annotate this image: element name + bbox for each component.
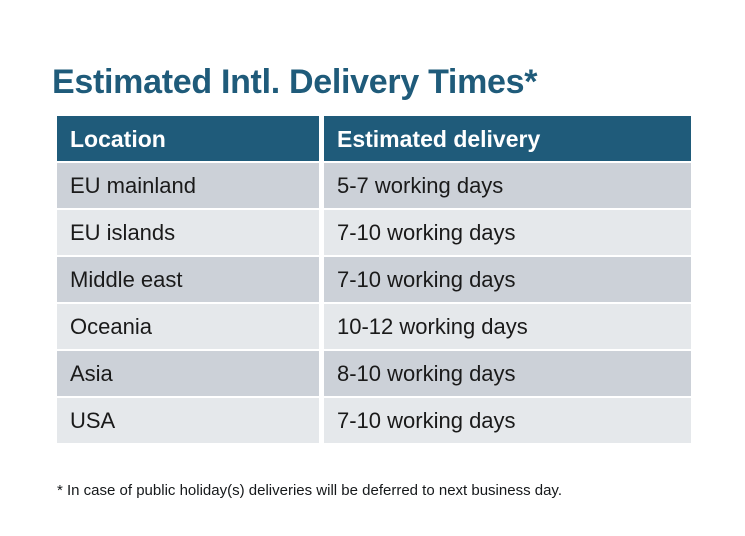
cell-location: Asia bbox=[57, 351, 319, 396]
cell-delivery: 10-12 working days bbox=[324, 304, 691, 349]
delivery-times-table: Location Estimated delivery EU mainland … bbox=[52, 114, 696, 445]
cell-location: USA bbox=[57, 398, 319, 443]
table-row: Oceania 10-12 working days bbox=[57, 304, 691, 349]
table-row: EU mainland 5-7 working days bbox=[57, 163, 691, 208]
delivery-times-page: Estimated Intl. Delivery Times* Location… bbox=[0, 0, 745, 536]
table-row: Asia 8-10 working days bbox=[57, 351, 691, 396]
cell-delivery: 7-10 working days bbox=[324, 398, 691, 443]
column-header-estimated-delivery: Estimated delivery bbox=[324, 116, 691, 161]
page-title: Estimated Intl. Delivery Times* bbox=[52, 61, 712, 103]
cell-location: EU islands bbox=[57, 210, 319, 255]
cell-delivery: 8-10 working days bbox=[324, 351, 691, 396]
table-header-row: Location Estimated delivery bbox=[57, 116, 691, 161]
cell-delivery: 7-10 working days bbox=[324, 210, 691, 255]
cell-delivery: 7-10 working days bbox=[324, 257, 691, 302]
table-row: USA 7-10 working days bbox=[57, 398, 691, 443]
column-header-location: Location bbox=[57, 116, 319, 161]
cell-location: EU mainland bbox=[57, 163, 319, 208]
table-row: Middle east 7-10 working days bbox=[57, 257, 691, 302]
footnote: * In case of public holiday(s) deliverie… bbox=[57, 481, 707, 501]
cell-delivery: 5-7 working days bbox=[324, 163, 691, 208]
cell-location: Oceania bbox=[57, 304, 319, 349]
cell-location: Middle east bbox=[57, 257, 319, 302]
table-row: EU islands 7-10 working days bbox=[57, 210, 691, 255]
table-body: EU mainland 5-7 working days EU islands … bbox=[57, 163, 691, 443]
table-header: Location Estimated delivery bbox=[57, 116, 691, 161]
